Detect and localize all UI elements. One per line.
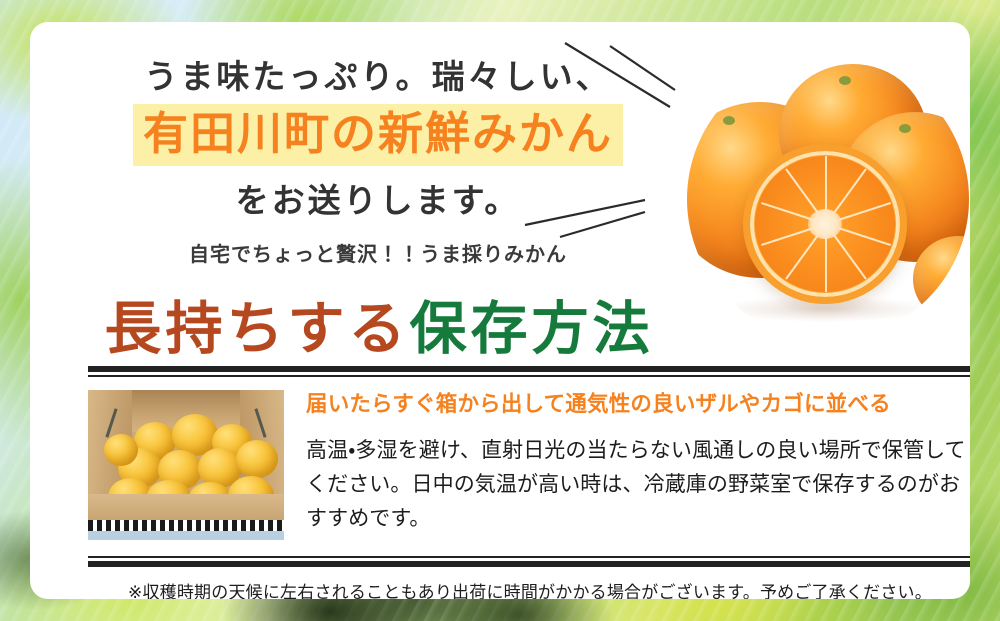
halved-orange — [743, 144, 907, 304]
orange-rind-ring — [743, 144, 907, 304]
box-front-panel — [88, 494, 284, 520]
divider-top — [88, 366, 970, 377]
storage-heading: 届いたらすぐ箱から出して通気性の良いザルやカゴに並べる — [306, 392, 970, 418]
divider-top-thin — [88, 375, 970, 377]
storage-paragraph: 高温・多湿を避け、直射日光の当たらない風通しの良い場所で保管してください。日中の… — [306, 433, 970, 535]
divider-bottom — [88, 556, 970, 567]
storage-text: 届いたらすぐ箱から出して通気性の良いザルやカゴに並べる 高温・多湿を避け、直射日… — [306, 390, 970, 540]
divider-top-thick — [88, 366, 970, 372]
box-fruit — [104, 434, 138, 466]
mandarin-box-photo — [88, 390, 284, 540]
orange-stem-back — [839, 76, 851, 85]
orange-stem-left — [723, 116, 735, 125]
box-fruit — [236, 440, 278, 478]
box-strap — [88, 520, 284, 531]
divider-bottom-thin — [88, 556, 970, 558]
hero-highlight-text: 有田川町の新鮮みかん — [133, 104, 623, 166]
hero-headline: うま味たっぷり。瑞々しい、 有田川町の新鮮みかん をお送りします。 自宅でちょっ… — [88, 56, 668, 267]
orange-stem-right — [899, 124, 911, 133]
promo-banner: うま味たっぷり。瑞々しい、 有田川町の新鮮みかん をお送りします。 自宅でちょっ… — [0, 0, 1000, 621]
mandarin-photo-circle — [687, 58, 969, 340]
section-title-orange: 長持ちする — [105, 296, 410, 362]
footer-note: ※収穫時期の天候に左右されることもあり出荷に時間がかかる場合がございます。予めご… — [88, 578, 970, 599]
section-title-green: 保存方法 — [410, 296, 654, 362]
box-base-surface — [88, 531, 284, 540]
divider-bottom-thick — [88, 561, 970, 567]
content-card: うま味たっぷり。瑞々しい、 有田川町の新鮮みかん をお送りします。 自宅でちょっ… — [30, 22, 970, 599]
hero-tagline: 自宅でちょっと贅沢！！うま採りみかん — [88, 238, 668, 267]
section-title: 長持ちする保存方法 — [88, 300, 670, 360]
storage-section: 届いたらすぐ箱から出して通気性の良いザルやカゴに並べる 高温・多湿を避け、直射日… — [88, 390, 970, 540]
mandarin-photo-inner — [687, 58, 969, 340]
hero-line-3: をお送りします。 — [88, 174, 668, 222]
hero-line-1: うま味たっぷり。瑞々しい、 — [88, 56, 668, 98]
